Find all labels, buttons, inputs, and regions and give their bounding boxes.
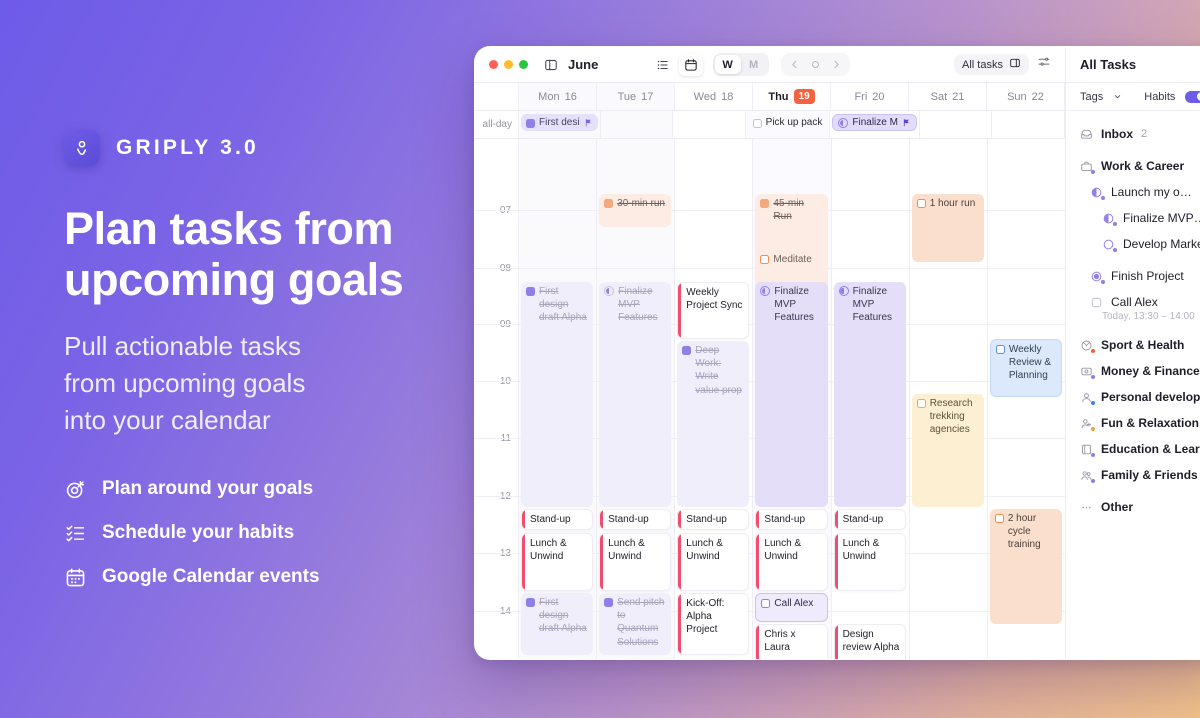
feature-label: Google Calendar events <box>102 566 320 588</box>
event-title: Stand-up <box>843 513 900 526</box>
checked-checkbox-icon[interactable] <box>526 287 535 296</box>
event-title: Lunch & Unwind <box>608 537 665 563</box>
checked-checkbox-icon[interactable] <box>604 199 613 208</box>
day-name: Tue <box>618 91 637 103</box>
all-tasks-label: All tasks <box>962 59 1003 71</box>
page-title-line2: upcoming goals <box>64 254 403 305</box>
sidebar-item-label: Finish Project <box>1111 269 1184 283</box>
feature-item-habits: Schedule your habits <box>64 522 484 544</box>
event-title: Stand-up <box>608 513 665 526</box>
sidebar-item-fun-relaxation[interactable]: Fun & Relaxation <box>1066 410 1200 436</box>
day-column-sat[interactable]: 1 hour run Research trekking agencies <box>910 139 988 659</box>
all-tasks-title: All Tasks <box>1066 47 1200 83</box>
empty-checkbox-icon[interactable] <box>760 255 769 264</box>
event-title: Finalize M <box>852 117 898 128</box>
progress-icon <box>1090 186 1103 199</box>
briefcase-icon <box>1080 160 1093 173</box>
page-subtitle-line3: into your calendar <box>64 405 271 435</box>
sidebar-item-subtitle: Today, 13:30 – 14:00 <box>1066 311 1200 326</box>
sidebar-item-inbox[interactable]: Inbox 2 <box>1066 121 1200 147</box>
event-title: First desi <box>539 117 580 128</box>
target-goal-icon <box>64 478 86 500</box>
event-title: Weekly Review & Planning <box>1009 343 1056 383</box>
event-title: Send pitch to Quantum Solutions <box>617 596 666 649</box>
calendar-event[interactable]: Weekly Project Sync <box>677 282 749 339</box>
checkbox-icon[interactable] <box>1090 296 1103 309</box>
calendar-event[interactable]: 2 hour cycle training <box>990 509 1062 624</box>
toolbar-right: All tasks <box>954 54 1051 75</box>
event-title: Weekly Project Sync <box>686 286 743 312</box>
panel-right-icon <box>1009 57 1021 72</box>
progress-ring-icon[interactable] <box>604 286 614 296</box>
sidebar-item-label: Fun & Relaxation <box>1101 416 1199 430</box>
event-title: Deep Work: Write value prop <box>695 344 744 397</box>
calendar-event[interactable]: Research trekking agencies <box>912 394 984 507</box>
calendar-event[interactable]: Meditate <box>755 250 827 269</box>
money-icon <box>1080 365 1093 378</box>
event-title: Design review Alpha <box>843 628 900 654</box>
sidebar-item-finalize-mvp[interactable]: Finalize MVP… <box>1066 205 1200 231</box>
all-day-event[interactable]: Pick up pack <box>748 114 828 131</box>
event-title: Finalize MVP Features <box>853 285 901 325</box>
brand-name: GRIPLY 3.0 <box>116 136 259 160</box>
calendar-toolbar: June W M <box>475 47 1065 83</box>
sidebar-item-label: Launch my o… <box>1111 185 1192 199</box>
habits-toggle[interactable] <box>1185 91 1200 103</box>
family-icon <box>1080 469 1093 482</box>
day-number: 16 <box>565 91 577 103</box>
event-title: First design draft Alpha <box>539 285 588 325</box>
checked-checkbox-icon[interactable] <box>760 199 769 208</box>
close-window-button[interactable] <box>489 60 498 69</box>
all-day-cell-sat[interactable] <box>920 111 993 138</box>
tab-week-view[interactable]: W <box>715 55 741 74</box>
calendar-event[interactable]: Lunch & Unwind <box>834 533 906 591</box>
brand-row: GRIPLY 3.0 <box>64 130 484 166</box>
sidebar-item-label: Sport & Health <box>1101 338 1184 352</box>
calendar-event[interactable]: Lunch & Unwind <box>677 533 749 591</box>
calendar-event[interactable]: Lunch & Unwind <box>755 533 827 591</box>
checked-checkbox-icon[interactable] <box>604 598 613 607</box>
calendar-pane: June W M <box>475 47 1065 659</box>
event-title: First design draft Alpha <box>539 596 588 636</box>
day-number: 21 <box>952 91 964 103</box>
time-grid: First design draft Alpha Stand-up Lunch … <box>519 139 1065 659</box>
calendar-event[interactable]: 1 hour run <box>912 194 984 262</box>
empty-checkbox-icon[interactable] <box>917 399 926 408</box>
day-column-mon[interactable]: First design draft Alpha Stand-up Lunch … <box>519 139 597 659</box>
tags-filter-label[interactable]: Tags <box>1080 91 1103 103</box>
event-title: 30-min run <box>617 197 665 210</box>
progress-icon <box>1102 212 1115 225</box>
chevron-right-icon[interactable] <box>827 55 846 74</box>
day-name: Mon <box>538 91 559 103</box>
all-day-event[interactable]: First desi <box>521 114 598 131</box>
event-title: Lunch & Unwind <box>686 537 743 563</box>
inbox-icon <box>1080 128 1093 141</box>
progress-ring-icon[interactable] <box>838 118 848 128</box>
event-title: Stand-up <box>530 513 587 526</box>
griply-logo-icon <box>64 130 100 166</box>
checked-checkbox-icon[interactable] <box>526 598 535 607</box>
feature-item-gcal: Google Calendar events <box>64 566 484 588</box>
calendar-event[interactable]: Deep Work: Write value prop <box>677 341 749 507</box>
calendar-event[interactable]: Stand-up <box>677 509 749 530</box>
sidebar-item-sport-health[interactable]: Sport & Health <box>1066 332 1200 358</box>
gutter-corner <box>475 83 519 110</box>
calendar-day-header: Mon 16 Tue 17 Wed 18 Thu 19 Fri 20 Sat 2… <box>475 83 1065 111</box>
event-title: Chris x Laura <box>764 628 821 654</box>
calendar-event[interactable]: Lunch & Unwind <box>599 533 671 591</box>
empty-checkbox-icon[interactable] <box>995 514 1004 523</box>
calendar-event[interactable]: Finalize MVP Features <box>834 282 906 507</box>
day-header-fri[interactable]: Fri 20 <box>831 83 909 110</box>
fun-icon <box>1080 417 1093 430</box>
dots-icon <box>1080 501 1093 514</box>
day-column-tue[interactable]: 30-min run Finalize MVP Features Stand-u… <box>597 139 675 659</box>
day-header-thu[interactable]: Thu 19 <box>753 83 831 110</box>
sidebar-item-label: Work & Career <box>1101 159 1184 173</box>
sidebar-item-label: Develop Marke <box>1123 237 1200 251</box>
sidebar-item-label: Education & Lear <box>1101 442 1200 456</box>
all-tasks-toggle-button[interactable]: All tasks <box>954 54 1029 75</box>
calendar-event[interactable]: Finalize MVP Features <box>599 282 671 507</box>
app-window: June W M <box>474 46 1200 660</box>
promo-panel: GRIPLY 3.0 Plan tasks from upcoming goal… <box>64 130 484 588</box>
month-label[interactable]: June <box>568 57 598 72</box>
sidebar-item-money-finance[interactable]: Money & Finance <box>1066 358 1200 384</box>
sidebar-item-launch-my-o[interactable]: Launch my o… <box>1066 179 1200 205</box>
view-segmented-control: W M <box>713 53 769 76</box>
calendar-event[interactable]: Stand-up <box>599 509 671 530</box>
day-number: 17 <box>641 91 653 103</box>
circle-today-icon[interactable] <box>806 55 825 74</box>
day-number: 18 <box>721 91 733 103</box>
empty-checkbox-icon[interactable] <box>996 345 1005 354</box>
sidebar-item-label: Other <box>1101 500 1133 514</box>
all-day-cell-mon[interactable]: First desi <box>519 111 601 138</box>
all-tasks-panel: All Tasks Tags Habits Inbox 2 <box>1065 47 1200 659</box>
sidebar-item-label: Call Alex <box>1111 295 1158 309</box>
calendar-event[interactable]: First design draft Alpha <box>521 282 593 507</box>
date-navigation <box>781 53 850 76</box>
calendar-event[interactable]: Stand-up <box>755 509 827 530</box>
progress-ring-icon[interactable] <box>839 286 849 296</box>
flag-icon <box>584 118 593 127</box>
maximize-window-button[interactable] <box>519 60 528 69</box>
all-day-cell-fri[interactable]: Finalize M <box>830 111 920 138</box>
sidebar-item-personal-development[interactable]: Personal develop <box>1066 384 1200 410</box>
progress-ring-icon[interactable] <box>760 286 770 296</box>
sidebar-item-label: Money & Finance <box>1101 364 1200 378</box>
event-title: Stand-up <box>764 513 821 526</box>
calendar-event[interactable]: Design review Alpha <box>834 624 906 659</box>
all-day-row: all-day First desi Pick up pack <box>475 111 1065 139</box>
all-day-event[interactable]: Finalize M <box>832 114 917 131</box>
calendar-event[interactable]: Kick-Off: Alpha Project <box>677 593 749 655</box>
all-day-cell-sun[interactable] <box>992 111 1065 138</box>
day-name: Wed <box>694 91 716 103</box>
sidebar-item-other[interactable]: Other <box>1066 494 1200 520</box>
day-header-tue[interactable]: Tue 17 <box>597 83 675 110</box>
page-title-line1: Plan tasks from <box>64 203 393 254</box>
day-column-sun[interactable]: Weekly Review & Planning 2 hour cycle tr… <box>988 139 1065 659</box>
tab-month-view[interactable]: M <box>741 55 767 74</box>
event-title: Lunch & Unwind <box>764 537 821 563</box>
event-title: Lunch & Unwind <box>530 537 587 563</box>
calendar-icon <box>64 566 86 588</box>
day-name: Thu <box>768 91 788 103</box>
event-title: Pick up pack <box>766 117 823 128</box>
calendar-event[interactable]: Stand-up <box>521 509 593 530</box>
calendar-event[interactable]: Call Alex <box>755 593 827 622</box>
all-day-cell-thu[interactable]: Pick up pack <box>746 111 831 138</box>
calendar-scroll-body[interactable]: 07 08 09 10 11 12 13 14 <box>475 139 1065 659</box>
event-title: 1 hour run <box>930 197 976 210</box>
page-subtitle-line2: from upcoming goals <box>64 368 305 398</box>
sidebar-item-develop-marketing[interactable]: Develop Marke <box>1066 231 1200 257</box>
empty-checkbox-icon[interactable] <box>917 199 926 208</box>
chevron-left-icon[interactable] <box>785 55 804 74</box>
day-header-wed[interactable]: Wed 18 <box>675 83 753 110</box>
event-title: 2 hour cycle training <box>1008 512 1057 552</box>
feature-label: Plan around your goals <box>102 478 313 500</box>
event-title: Lunch & Unwind <box>843 537 900 563</box>
calendar-event[interactable]: 30-min run <box>599 194 671 227</box>
day-column-fri[interactable]: Finalize MVP Features Stand-up Lunch & U… <box>832 139 910 659</box>
all-day-cell-tue[interactable] <box>601 111 674 138</box>
day-number: 22 <box>1032 91 1044 103</box>
feature-list: Plan around your goals Schedule your hab… <box>64 478 484 588</box>
feature-label: Schedule your habits <box>102 522 294 544</box>
sidebar-item-family-friends[interactable]: Family & Friends <box>1066 462 1200 488</box>
event-title: Finalize MVP Features <box>618 285 666 325</box>
list-view-icon[interactable] <box>651 54 675 76</box>
sidebar-item-finish-project[interactable]: Finish Project <box>1066 263 1200 289</box>
today-badge: 19 <box>794 89 815 104</box>
sidebar-item-work-career[interactable]: Work & Career <box>1066 153 1200 179</box>
day-column-thu[interactable]: 45-min Run Meditate Finalize MVP Feature… <box>753 139 831 659</box>
calendar-event[interactable]: Finalize MVP Features <box>755 282 827 507</box>
education-icon <box>1080 443 1093 456</box>
sliders-icon[interactable] <box>1037 55 1051 74</box>
checked-checkbox-icon[interactable] <box>682 346 691 355</box>
checklist-icon <box>64 522 86 544</box>
sidebar-item-label: Finalize MVP… <box>1123 211 1200 225</box>
event-title: Finalize MVP Features <box>774 285 822 325</box>
panel-toggle-icon[interactable] <box>544 58 558 72</box>
day-name: Fri <box>854 91 867 103</box>
sidebar-item-label: Inbox <box>1101 127 1133 141</box>
all-day-cell-wed[interactable] <box>673 111 746 138</box>
calendar-view-icon[interactable] <box>679 54 703 76</box>
habits-filter-label: Habits <box>1144 91 1175 103</box>
page-subtitle-line1: Pull actionable tasks <box>64 331 301 361</box>
day-header-sun[interactable]: Sun 22 <box>987 83 1065 110</box>
sidebar-item-education-learning[interactable]: Education & Lear <box>1066 436 1200 462</box>
day-number: 20 <box>872 91 884 103</box>
event-title: Stand-up <box>686 513 743 526</box>
all-day-label: all-day <box>475 111 519 138</box>
task-filters: Tags Habits <box>1066 83 1200 111</box>
calendar-event[interactable]: Chris x Laura <box>755 624 827 659</box>
radio-filled-icon <box>1090 270 1103 283</box>
empty-checkbox-icon[interactable] <box>753 119 762 128</box>
day-header-mon[interactable]: Mon 16 <box>519 83 597 110</box>
empty-checkbox-icon[interactable] <box>761 599 770 608</box>
feature-item-goals: Plan around your goals <box>64 478 484 500</box>
day-header-sat[interactable]: Sat 21 <box>909 83 987 110</box>
calendar-event[interactable]: First design draft Alpha <box>521 593 593 655</box>
event-title: Research trekking agencies <box>930 397 979 437</box>
checked-checkbox-icon[interactable] <box>526 119 535 128</box>
event-title: Call Alex <box>774 597 813 610</box>
sidebar-item-count: 2 <box>1141 128 1147 140</box>
calendar-event[interactable]: Stand-up <box>834 509 906 530</box>
calendar-event[interactable]: Weekly Review & Planning <box>990 339 1062 397</box>
day-name: Sun <box>1007 91 1027 103</box>
sport-icon <box>1080 339 1093 352</box>
minimize-window-button[interactable] <box>504 60 513 69</box>
circle-icon <box>1102 238 1115 251</box>
window-traffic-lights <box>489 60 528 69</box>
event-title: 45-min Run <box>773 197 822 223</box>
task-list: Inbox 2 Work & Career Launch my o… <box>1066 111 1200 659</box>
sidebar-item-label: Personal develop <box>1101 390 1200 404</box>
day-column-wed[interactable]: Weekly Project Sync Deep Work: Write val… <box>675 139 753 659</box>
time-gutter: 07 08 09 10 11 12 13 14 <box>475 139 519 659</box>
page-title: Plan tasks from upcoming goals <box>64 204 484 306</box>
calendar-event[interactable]: Send pitch to Quantum Solutions <box>599 593 671 655</box>
flag-icon <box>902 118 911 127</box>
event-title: Meditate <box>773 253 811 266</box>
sidebar-item-label: Family & Friends <box>1101 468 1198 482</box>
calendar-event[interactable]: Lunch & Unwind <box>521 533 593 591</box>
chevron-down-icon[interactable] <box>1113 92 1122 101</box>
page-subtitle: Pull actionable tasks from upcoming goal… <box>64 328 484 439</box>
day-name: Sat <box>931 91 948 103</box>
view-controls: W M <box>651 53 850 76</box>
person-icon <box>1080 391 1093 404</box>
event-title: Kick-Off: Alpha Project <box>686 597 743 637</box>
